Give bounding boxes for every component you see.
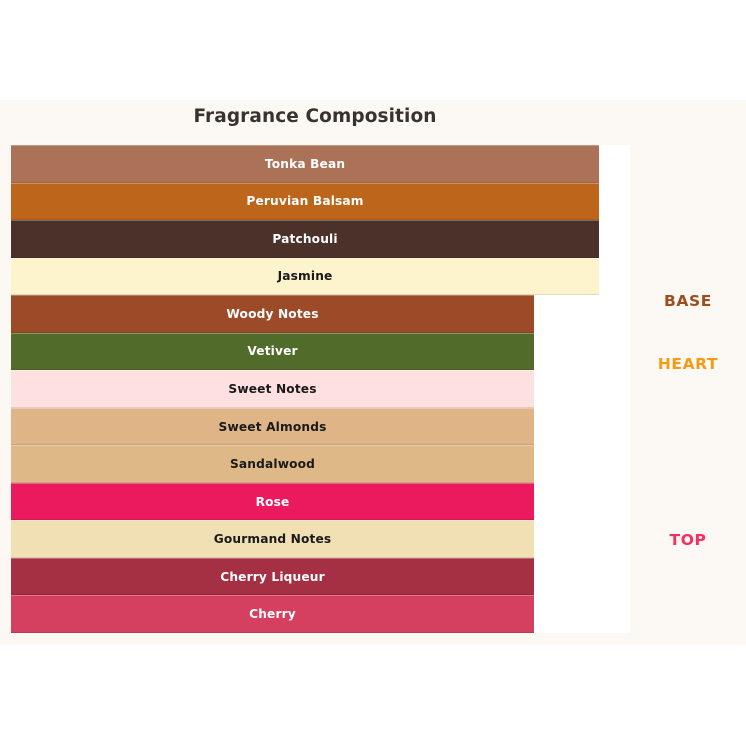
- bar-label: Peruvian Balsam: [246, 194, 363, 208]
- bar-label: Sandalwood: [230, 457, 315, 471]
- bar-vetiver[interactable]: Vetiver: [11, 333, 534, 371]
- bar-tonka-bean[interactable]: Tonka Bean: [11, 145, 599, 183]
- bar-cherry[interactable]: Cherry: [11, 595, 534, 633]
- bar-sweet-notes[interactable]: Sweet Notes: [11, 370, 534, 408]
- bar-sweet-almonds[interactable]: Sweet Almonds: [11, 408, 534, 446]
- bar-label: Woody Notes: [226, 307, 318, 321]
- bar-label: Sweet Almonds: [219, 420, 327, 434]
- bar-peruvian-balsam[interactable]: Peruvian Balsam: [11, 183, 599, 221]
- chart-title: Fragrance Composition: [0, 106, 630, 127]
- bar-chart: Tonka BeanPeruvian BalsamPatchouliJasmin…: [11, 145, 630, 633]
- bar-label: Tonka Bean: [265, 157, 345, 171]
- bar-label: Jasmine: [278, 269, 333, 283]
- bar-gourmand-notes[interactable]: Gourmand Notes: [11, 520, 534, 558]
- bar-jasmine[interactable]: Jasmine: [11, 258, 599, 296]
- bar-patchouli[interactable]: Patchouli: [11, 220, 599, 258]
- tier-label-top: TOP: [630, 531, 746, 549]
- bar-label: Gourmand Notes: [214, 532, 332, 546]
- bar-woody-notes[interactable]: Woody Notes: [11, 295, 534, 333]
- bar-sandalwood[interactable]: Sandalwood: [11, 445, 534, 483]
- bar-label: Patchouli: [272, 232, 337, 246]
- bar-rose[interactable]: Rose: [11, 483, 534, 521]
- tier-label-base: BASE: [630, 292, 746, 310]
- bar-label: Sweet Notes: [228, 382, 316, 396]
- tier-label-heart: HEART: [630, 355, 746, 373]
- bar-label: Vetiver: [247, 344, 297, 358]
- bar-label: Rose: [256, 495, 290, 509]
- bar-label: Cherry: [249, 607, 296, 621]
- bar-cherry-liqueur[interactable]: Cherry Liqueur: [11, 558, 534, 596]
- tier-label-group: BASEHEARTTOP: [630, 100, 746, 645]
- bar-label: Cherry Liqueur: [220, 570, 325, 584]
